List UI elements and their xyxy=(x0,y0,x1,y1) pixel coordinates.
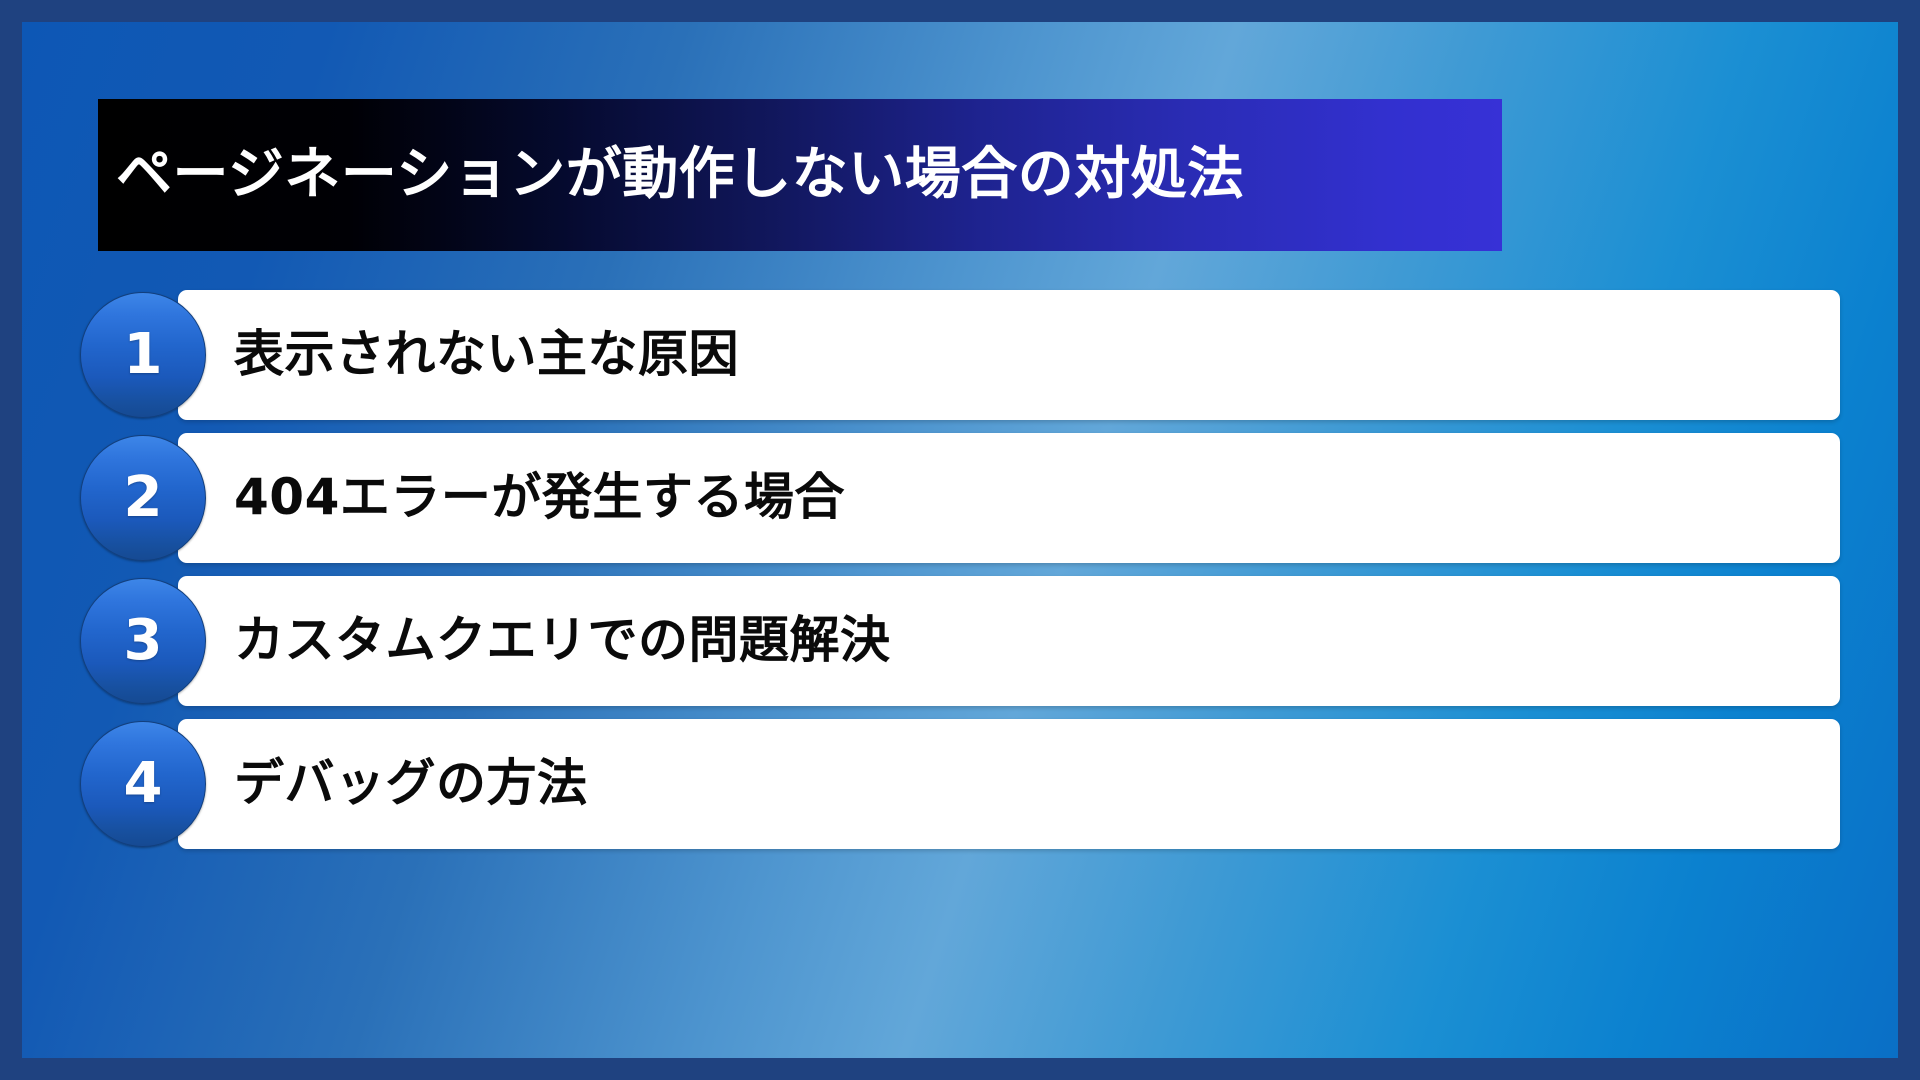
step-badge-2: 2 xyxy=(80,435,206,561)
page-title: ページネーションが動作しない場合の対処法 xyxy=(116,144,1244,206)
step-label: カスタムクエリでの問題解決 xyxy=(234,612,891,670)
slide-inner-panel: ページネーションが動作しない場合の対処法 1 表示されない主な原因 2 404エ… xyxy=(22,22,1898,1058)
step-number: 2 xyxy=(124,470,163,526)
list-item[interactable]: 4 デバッグの方法 xyxy=(80,714,1840,854)
step-number: 4 xyxy=(124,756,163,812)
step-card-3[interactable]: カスタムクエリでの問題解決 xyxy=(178,576,1840,706)
list-item[interactable]: 3 カスタムクエリでの問題解決 xyxy=(80,571,1840,711)
slide-title-bar: ページネーションが動作しない場合の対処法 xyxy=(98,99,1502,251)
agenda-list: 1 表示されない主な原因 2 404エラーが発生する場合 3 xyxy=(80,285,1840,857)
step-label: 404エラーが発生する場合 xyxy=(234,469,845,527)
list-item[interactable]: 1 表示されない主な原因 xyxy=(80,285,1840,425)
step-card-2[interactable]: 404エラーが発生する場合 xyxy=(178,433,1840,563)
step-badge-3: 3 xyxy=(80,578,206,704)
step-card-4[interactable]: デバッグの方法 xyxy=(178,719,1840,849)
step-label: 表示されない主な原因 xyxy=(234,326,739,384)
step-number: 3 xyxy=(124,613,163,669)
step-label: デバッグの方法 xyxy=(234,755,588,813)
list-item[interactable]: 2 404エラーが発生する場合 xyxy=(80,428,1840,568)
step-number: 1 xyxy=(124,327,163,383)
step-badge-4: 4 xyxy=(80,721,206,847)
step-badge-1: 1 xyxy=(80,292,206,418)
slide-canvas: ページネーションが動作しない場合の対処法 1 表示されない主な原因 2 404エ… xyxy=(0,0,1920,1080)
step-card-1[interactable]: 表示されない主な原因 xyxy=(178,290,1840,420)
